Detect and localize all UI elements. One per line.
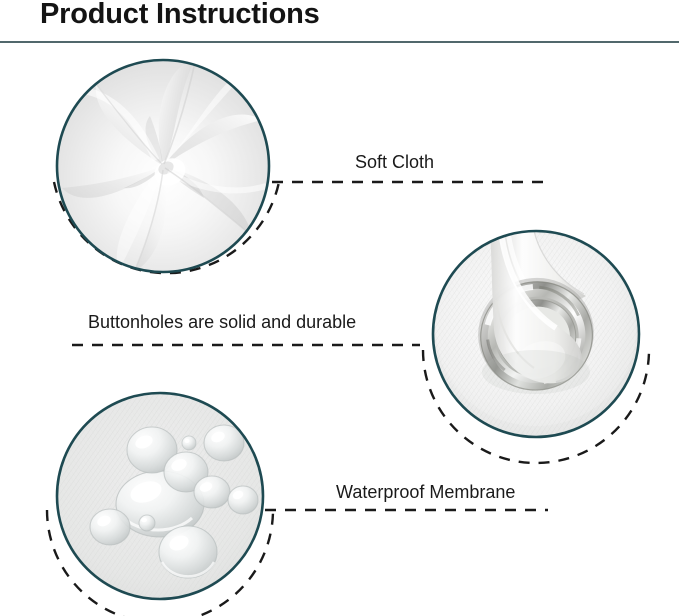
product-instructions-infographic: Product Instructions — [0, 0, 679, 616]
label-waterproof: Waterproof Membrane — [336, 482, 515, 503]
callout-soft-cloth — [54, 58, 548, 273]
soft-cloth-image — [57, 58, 269, 272]
infographic-canvas — [0, 0, 679, 616]
callout-waterproof — [47, 393, 548, 616]
buttonhole-image — [433, 231, 639, 437]
label-soft-cloth: Soft Cloth — [355, 152, 434, 173]
label-buttonholes: Buttonholes are solid and durable — [88, 312, 356, 333]
waterproof-image — [57, 393, 263, 599]
